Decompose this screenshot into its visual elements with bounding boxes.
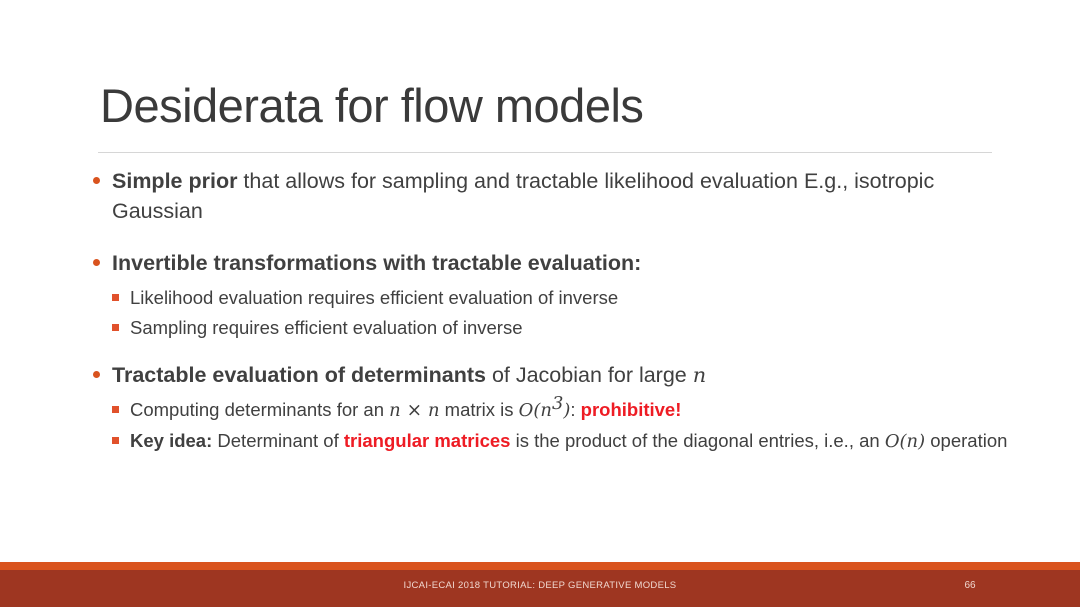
sub-3-2-a: Determinant of [212, 430, 344, 451]
math-n1: n [389, 400, 401, 421]
bullet-square-icon [112, 437, 119, 444]
math-exponent: 3 [552, 393, 563, 414]
bullet-invertible-transformations: Invertible transformations with tractabl… [90, 248, 1010, 278]
sub-3-2-bold: Key idea: [130, 430, 212, 451]
math-big-o-2: O [885, 431, 900, 452]
bullet-square-icon [112, 324, 119, 331]
sub-bullet-likelihood-eval: Likelihood evaluation requires efficient… [90, 284, 1010, 312]
math-times-sign: × [401, 400, 428, 421]
bullet-dot-icon [93, 371, 100, 378]
footer-title: IJCAI-ECAI 2018 TUTORIAL: DEEP GENERATIV… [0, 580, 1080, 591]
bullet-1-bold: Simple prior [112, 169, 237, 193]
sub-bullet-key-idea: Key idea: Determinant of triangular matr… [90, 427, 1010, 456]
sub-bullet-computing-determinants: Computing determinants for an n × n matr… [90, 396, 1010, 425]
sub-3-2-b: is the product of the diagonal entries, … [510, 430, 884, 451]
math-big-o: O [519, 400, 534, 421]
bullet-tractable-determinants: Tractable evaluation of determinants of … [90, 360, 1010, 390]
math-n2: n [428, 400, 440, 421]
math-n-4: n [907, 431, 919, 452]
sub-bullet-2-2-text: Sampling requires efficient evaluation o… [130, 317, 523, 338]
title-divider [98, 152, 992, 153]
highlight-triangular-matrices: triangular matrices [344, 430, 511, 451]
sub-bullet-sampling: Sampling requires efficient evaluation o… [90, 314, 1010, 342]
page-title: Desiderata for flow models [100, 78, 643, 133]
bullet-simple-prior: Simple prior that allows for sampling an… [90, 166, 1010, 226]
bullet-2-heading: Invertible transformations with tractabl… [112, 251, 641, 275]
highlight-prohibitive: prohibitive! [581, 399, 682, 420]
math-n: n [693, 363, 706, 387]
bullet-3-text: of Jacobian for large [486, 363, 693, 387]
bullet-dot-icon [93, 177, 100, 184]
math-n3: n [540, 400, 552, 421]
sub-3-1-pre: Computing determinants for an [130, 399, 389, 420]
bullet-square-icon [112, 294, 119, 301]
bullet-dot-icon [93, 259, 100, 266]
bullet-square-icon [112, 406, 119, 413]
math-paren-open-2: ( [900, 431, 907, 452]
slide-body: Simple prior that allows for sampling an… [90, 166, 1010, 458]
sub-3-1-colon: : [570, 399, 580, 420]
sub-3-2-c: operation [925, 430, 1007, 451]
sub-bullet-2-1-text: Likelihood evaluation requires efficient… [130, 287, 618, 308]
spacer [90, 232, 1010, 248]
slide: Desiderata for flow models Simple prior … [0, 0, 1080, 607]
footer-accent-bar [0, 562, 1080, 570]
sub-3-1-mid: matrix is [440, 399, 519, 420]
spacer [90, 344, 1010, 360]
slide-number: 66 [950, 580, 990, 591]
bullet-3-bold: Tractable evaluation of determinants [112, 363, 486, 387]
